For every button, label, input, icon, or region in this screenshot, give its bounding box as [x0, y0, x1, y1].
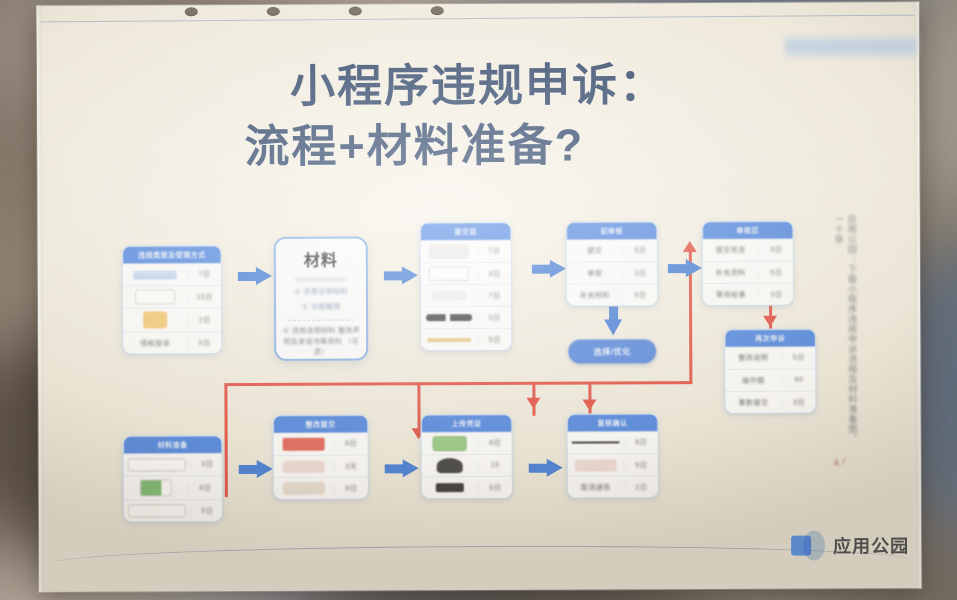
note-footer: ⦿ 违规说明材料 整改声明及承诺书等资料 （可选）: [282, 327, 360, 359]
card-title: 审核后: [703, 222, 793, 239]
flow-arrow-right-icon: [668, 259, 702, 277]
row-thumbnail: [422, 480, 478, 495]
row-value: 3日: [477, 268, 511, 278]
flow-card-reapply[interactable]: 再次申诉 整改说明 5日 操作期 60 重新提交 3日: [724, 329, 816, 414]
materials-note-card[interactable]: 材料 ⦿ 资质证明材料 ⦿ 功能截图 ⦿ 违规说明材料 整改声明及承诺书等资料 …: [274, 236, 369, 360]
row-thumbnail: [568, 456, 624, 474]
table-row: 15日: [123, 285, 221, 307]
row-value: 8日: [624, 437, 658, 447]
card-body: 6日 3天 8日: [274, 432, 368, 498]
flow-arrow-right-icon: [532, 260, 566, 278]
flowchart-diagram: 违规类型及受理方式 7日 15日 2日 侵权投诉: [37, 2, 922, 592]
flow-card-review[interactable]: 初审核 提交 5日 审核 3日 补充材料 5日: [566, 221, 658, 306]
table-row: 6日: [124, 475, 222, 499]
table-row: 10: [422, 454, 512, 476]
row-label: 整改说明: [725, 350, 781, 366]
table-row: 2日: [123, 307, 221, 331]
row-value: 3日: [190, 459, 223, 469]
row-value: 10: [478, 462, 512, 469]
row-value: 7日: [477, 290, 511, 300]
note-title: 材料: [282, 247, 360, 271]
table-row: 7日: [421, 284, 511, 306]
table-row: 侵权投诉 5日: [123, 331, 221, 353]
row-value: 8日: [478, 438, 512, 448]
flow-card-submit[interactable]: 提交前 7日 3日 7日 5: [420, 222, 513, 351]
row-value: 5日: [623, 245, 657, 255]
row-thumbnail: [568, 438, 624, 446]
row-value: 7日: [187, 269, 221, 279]
row-thumbnail: [274, 457, 334, 475]
card-title: 上传凭证: [422, 415, 512, 432]
row-thumbnail: [123, 286, 187, 307]
flow-card-final[interactable]: 复核确认 8日 5日 取消通告 2日: [567, 413, 659, 498]
row-thumbnail: [421, 241, 477, 262]
row-value: 3日: [759, 245, 793, 255]
brand-logo: 应用公园: [791, 529, 909, 562]
card-title: 复核确认: [568, 414, 658, 431]
flow-card-prepare[interactable]: 材料准备 3日 6日 5日: [123, 435, 223, 522]
row-value: 2日: [187, 315, 221, 325]
table-row: 提交信息 3日: [703, 239, 793, 261]
row-value: 3天: [334, 461, 368, 471]
table-row: 整改说明 5日: [725, 347, 815, 369]
card-body: 整改说明 5日 操作期 60 重新提交 3日: [725, 347, 815, 413]
note-subtitle-bar: [295, 278, 347, 282]
flow-arrow-right-icon: [239, 460, 273, 478]
screenshot-root: 小程序违规申诉： 流程+材料准备?: [0, 0, 957, 600]
table-row: 6日: [274, 432, 368, 454]
flow-arrow-right-icon: [385, 459, 419, 477]
card-body: 7日 3日 7日 5日: [421, 240, 511, 350]
note-divider: [288, 320, 354, 321]
table-row: 重新提交 3日: [725, 391, 815, 413]
flow-card-rules[interactable]: 违规类型及受理方式 7日 15日 2日 侵权投诉: [122, 245, 222, 354]
row-thumbnail: [422, 455, 478, 476]
table-row: 8日: [568, 431, 658, 453]
table-row: 3日: [124, 453, 222, 475]
red-connector-segment: [224, 382, 460, 386]
table-row: 3日: [421, 262, 511, 284]
row-label: 侵权投诉: [123, 335, 187, 351]
brand-name: 应用公园: [833, 532, 909, 558]
row-label: 提交: [567, 242, 623, 258]
card-body: 3日 6日 5日: [124, 453, 222, 521]
card-body: 7日 15日 2日 侵权投诉 5日: [123, 263, 221, 353]
row-value: 7日: [477, 246, 511, 256]
flow-card-evidence[interactable]: 上传凭证 8日 10 6日: [421, 414, 513, 499]
card-title: 材料准备: [124, 436, 222, 453]
red-connector-segment: [458, 381, 692, 385]
table-row: 7日: [123, 263, 221, 285]
row-thumbnail: [123, 308, 187, 331]
card-body: 8日 10 6日: [422, 432, 512, 498]
row-thumbnail: [124, 501, 190, 520]
red-arrowhead-down-icon: [582, 399, 596, 410]
row-label: 操作期: [725, 372, 781, 388]
row-value: 3日: [623, 268, 657, 278]
row-value: 5日: [187, 338, 221, 348]
row-thumbnail: [274, 479, 334, 498]
row-value: 5日: [624, 460, 658, 470]
vertical-caption: 应用公园：下载小程序违规申诉流程及材料准备图，一十张: [804, 214, 859, 444]
red-connector-segment: [224, 385, 227, 497]
select-optimize-button[interactable]: 选择/优化: [568, 339, 656, 363]
table-row: 7日: [421, 240, 511, 262]
row-thumbnail: [421, 335, 477, 345]
row-thumbnail: [124, 455, 190, 474]
table-row: 8日: [422, 432, 512, 454]
row-value: 5日: [477, 312, 511, 322]
row-thumbnail: [422, 433, 478, 454]
table-row: 操作期 60: [725, 369, 815, 391]
table-row: 5日: [124, 499, 222, 521]
card-title: 再次申诉: [725, 330, 815, 347]
row-thumbnail: [274, 434, 334, 453]
card-body: 8日 5日 取消通告 2日: [568, 431, 658, 497]
table-row: 5日: [421, 306, 511, 328]
red-arrowhead-up-icon: [683, 241, 697, 252]
row-label: 取消通告: [568, 479, 624, 495]
app-park-logo-icon: [791, 529, 825, 561]
row-thumbnail: [421, 263, 477, 284]
flow-arrow-right-icon: [384, 266, 418, 284]
row-value: 8日: [334, 483, 368, 493]
flow-arrow-right-icon: [238, 267, 272, 285]
table-row: 补充资料 5日: [703, 261, 793, 283]
handwritten-mark: 4 ⁄: [833, 457, 846, 469]
table-row: 取消通告 2日: [568, 475, 658, 497]
notebook-page: 小程序违规申诉： 流程+材料准备?: [37, 2, 922, 592]
flow-card-rectify[interactable]: 整改提交 6日 3天 8日: [273, 414, 369, 499]
flow-arrow-down-icon: [604, 303, 622, 335]
card-title: 整改提交: [274, 415, 368, 432]
table-row: 3天: [274, 454, 368, 476]
row-thumbnail: [124, 476, 188, 499]
card-body: 提交 5日 审核 3日 补充材料 5日: [567, 239, 657, 305]
table-row: 8日: [274, 476, 368, 498]
row-thumbnail: [421, 311, 477, 324]
table-row: 等待结果 3日: [703, 283, 793, 305]
table-row: 审核 3日: [567, 261, 657, 283]
row-thumbnail: [421, 288, 477, 303]
row-value: 6日: [334, 438, 368, 448]
red-arrowhead-down-icon: [763, 316, 777, 327]
red-arrowhead-down-icon: [526, 398, 540, 409]
row-value: 3日: [759, 289, 793, 299]
row-value: 5日: [759, 267, 793, 277]
row-label: 补充资料: [703, 264, 759, 280]
row-label: 重新提交: [725, 394, 781, 410]
row-value: 2日: [624, 482, 658, 492]
row-value: 5日: [477, 334, 511, 344]
row-label: 提交信息: [703, 242, 759, 258]
row-value: 6日: [478, 482, 512, 492]
table-row: 补充材料 5日: [567, 283, 657, 305]
note-bullet: ⦿ 功能截图: [282, 302, 360, 312]
row-label: 补充材料: [567, 287, 623, 303]
row-value: 15日: [187, 292, 221, 302]
flow-card-result[interactable]: 审核后 提交信息 3日 补充资料 5日 等待结果 3日: [702, 221, 794, 306]
row-value: 6日: [188, 483, 222, 493]
row-thumbnail: [123, 267, 187, 282]
card-body: 提交信息 3日 补充资料 5日 等待结果 3日: [703, 239, 793, 305]
card-title: 提交前: [421, 223, 511, 240]
row-label: 审核: [567, 265, 623, 281]
row-label: 等待结果: [703, 286, 759, 302]
row-value: 5日: [190, 506, 223, 516]
table-row: 提交 5日: [567, 239, 657, 261]
table-row: 5日: [568, 453, 658, 475]
table-row: 6日: [422, 476, 512, 498]
card-title: 初审核: [567, 222, 657, 239]
card-title: 违规类型及受理方式: [123, 246, 221, 263]
row-value: 5日: [623, 290, 657, 300]
flow-arrow-right-icon: [529, 459, 563, 477]
note-bullet: ⦿ 资质证明材料: [282, 287, 360, 297]
table-row: 5日: [421, 328, 511, 350]
